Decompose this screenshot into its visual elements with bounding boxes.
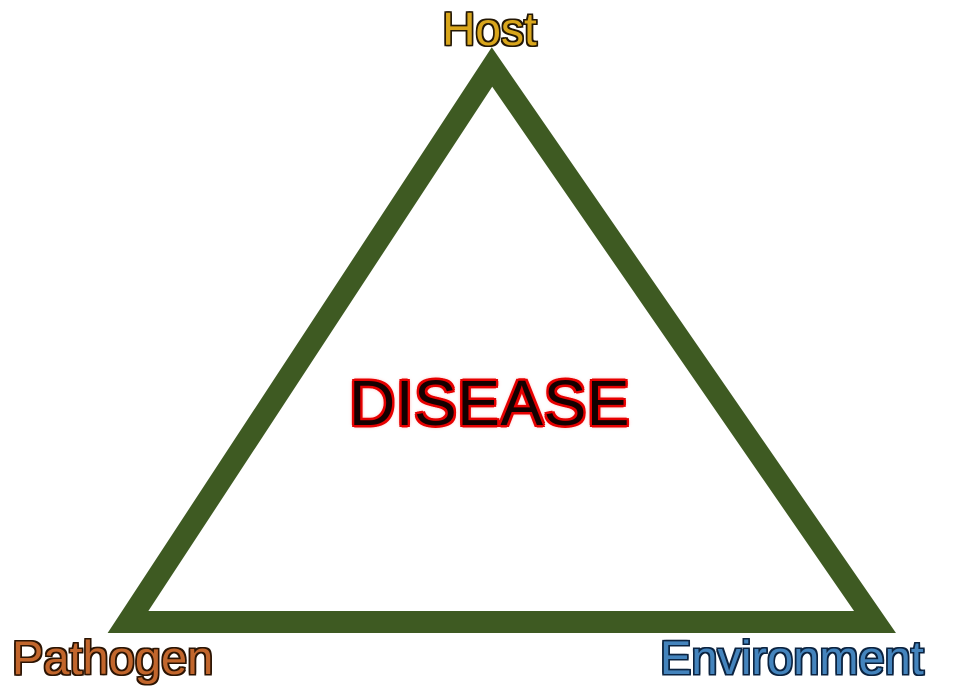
- triangle-shape: [0, 0, 979, 688]
- vertex-label-pathogen: Pathogen: [12, 634, 213, 681]
- center-label-disease: DISEASE: [0, 371, 979, 435]
- vertex-label-host: Host: [0, 6, 979, 52]
- vertex-label-environment: Environment: [660, 634, 924, 681]
- triangle-outline-path: [128, 67, 875, 622]
- disease-triangle-diagram: Host DISEASE Pathogen Environment: [0, 0, 979, 688]
